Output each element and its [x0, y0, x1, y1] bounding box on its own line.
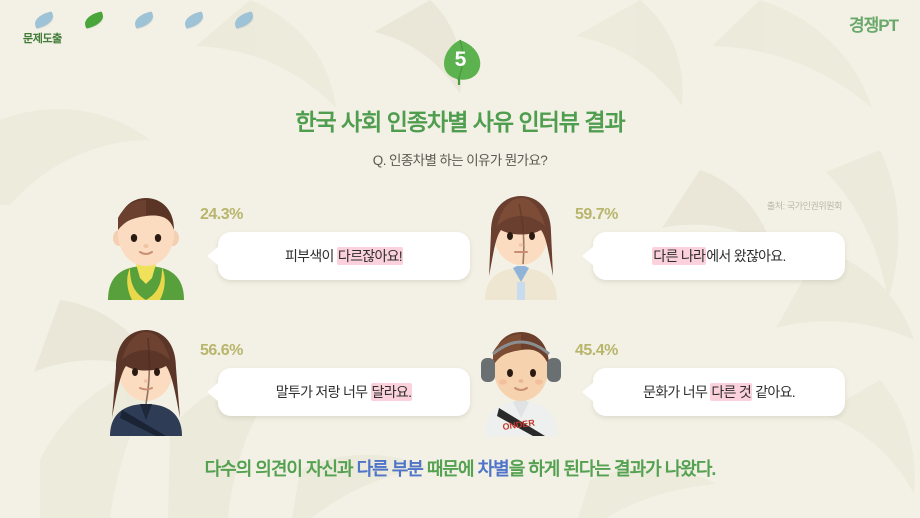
interview-card-3: 56.6% 말투가 저랑 너무 달라요. [92, 326, 492, 446]
section-number: 5 [434, 38, 486, 82]
interview-card-1: 24.3% 피부색이 다르잖아요! [92, 190, 492, 310]
speech-bubble: 다른 나라에서 왔잖아요. [593, 232, 845, 280]
avatar-girl-long-hair-cream [467, 190, 575, 300]
conclusion-part-2: 때문에 [423, 459, 478, 479]
conclusion-highlight-1: 다른 부분 [357, 459, 423, 479]
percent-value: 45.4% [575, 342, 618, 360]
speech-bubble: 말투가 저랑 너무 달라요. [218, 368, 470, 416]
section-number-leaf-icon: 5 [434, 38, 486, 86]
avatar-girl-navy-jacket [92, 326, 200, 436]
step-label: 문제도출 [23, 30, 62, 46]
interview-card-4: ONDER 45.4% 문화가 너무 다른 것 같아요. [467, 326, 867, 446]
quote-text: 문화가 너무 다른 것 같아요. [643, 382, 795, 402]
percent-value: 59.7% [575, 206, 618, 224]
conclusion-highlight-2: 차별 [478, 459, 509, 479]
avatar-boy-headphones: ONDER [467, 326, 575, 436]
quote-text: 말투가 저랑 너무 달라요. [276, 382, 413, 402]
conclusion-text: 다수의 의견이 자신과 다른 부분 때문에 차별을 하게 된다는 결과가 나왔다… [0, 455, 920, 481]
conclusion-part-3: 을 하게 된다는 결과가 나왔다. [509, 459, 716, 479]
quote-text: 피부색이 다르잖아요! [285, 246, 403, 266]
brand-logo: 경쟁PT [849, 11, 898, 36]
progress-leaf-strip [34, 14, 256, 28]
step-leaf-3-icon[interactable] [134, 14, 156, 28]
conclusion-part-1: 다수의 의견이 자신과 [205, 459, 357, 479]
quote-text: 다른 나라에서 왔잖아요. [652, 246, 785, 266]
page-subtitle: Q. 인종차별 하는 이유가 뭔가요? [0, 149, 920, 169]
step-leaf-4-icon[interactable] [184, 14, 206, 28]
interview-card-2: 59.7% 다른 나라에서 왔잖아요. [467, 190, 867, 310]
step-leaf-2-icon[interactable] [84, 14, 106, 28]
step-leaf-1-icon[interactable] [34, 14, 56, 28]
speech-bubble: 피부색이 다르잖아요! [218, 232, 470, 280]
percent-value: 24.3% [200, 206, 243, 224]
page-title: 한국 사회 인종차별 사유 인터뷰 결과 [0, 103, 920, 137]
speech-bubble: 문화가 너무 다른 것 같아요. [593, 368, 845, 416]
percent-value: 56.6% [200, 342, 243, 360]
avatar-boy-green-jacket [92, 190, 200, 300]
step-leaf-5-icon[interactable] [234, 14, 256, 28]
